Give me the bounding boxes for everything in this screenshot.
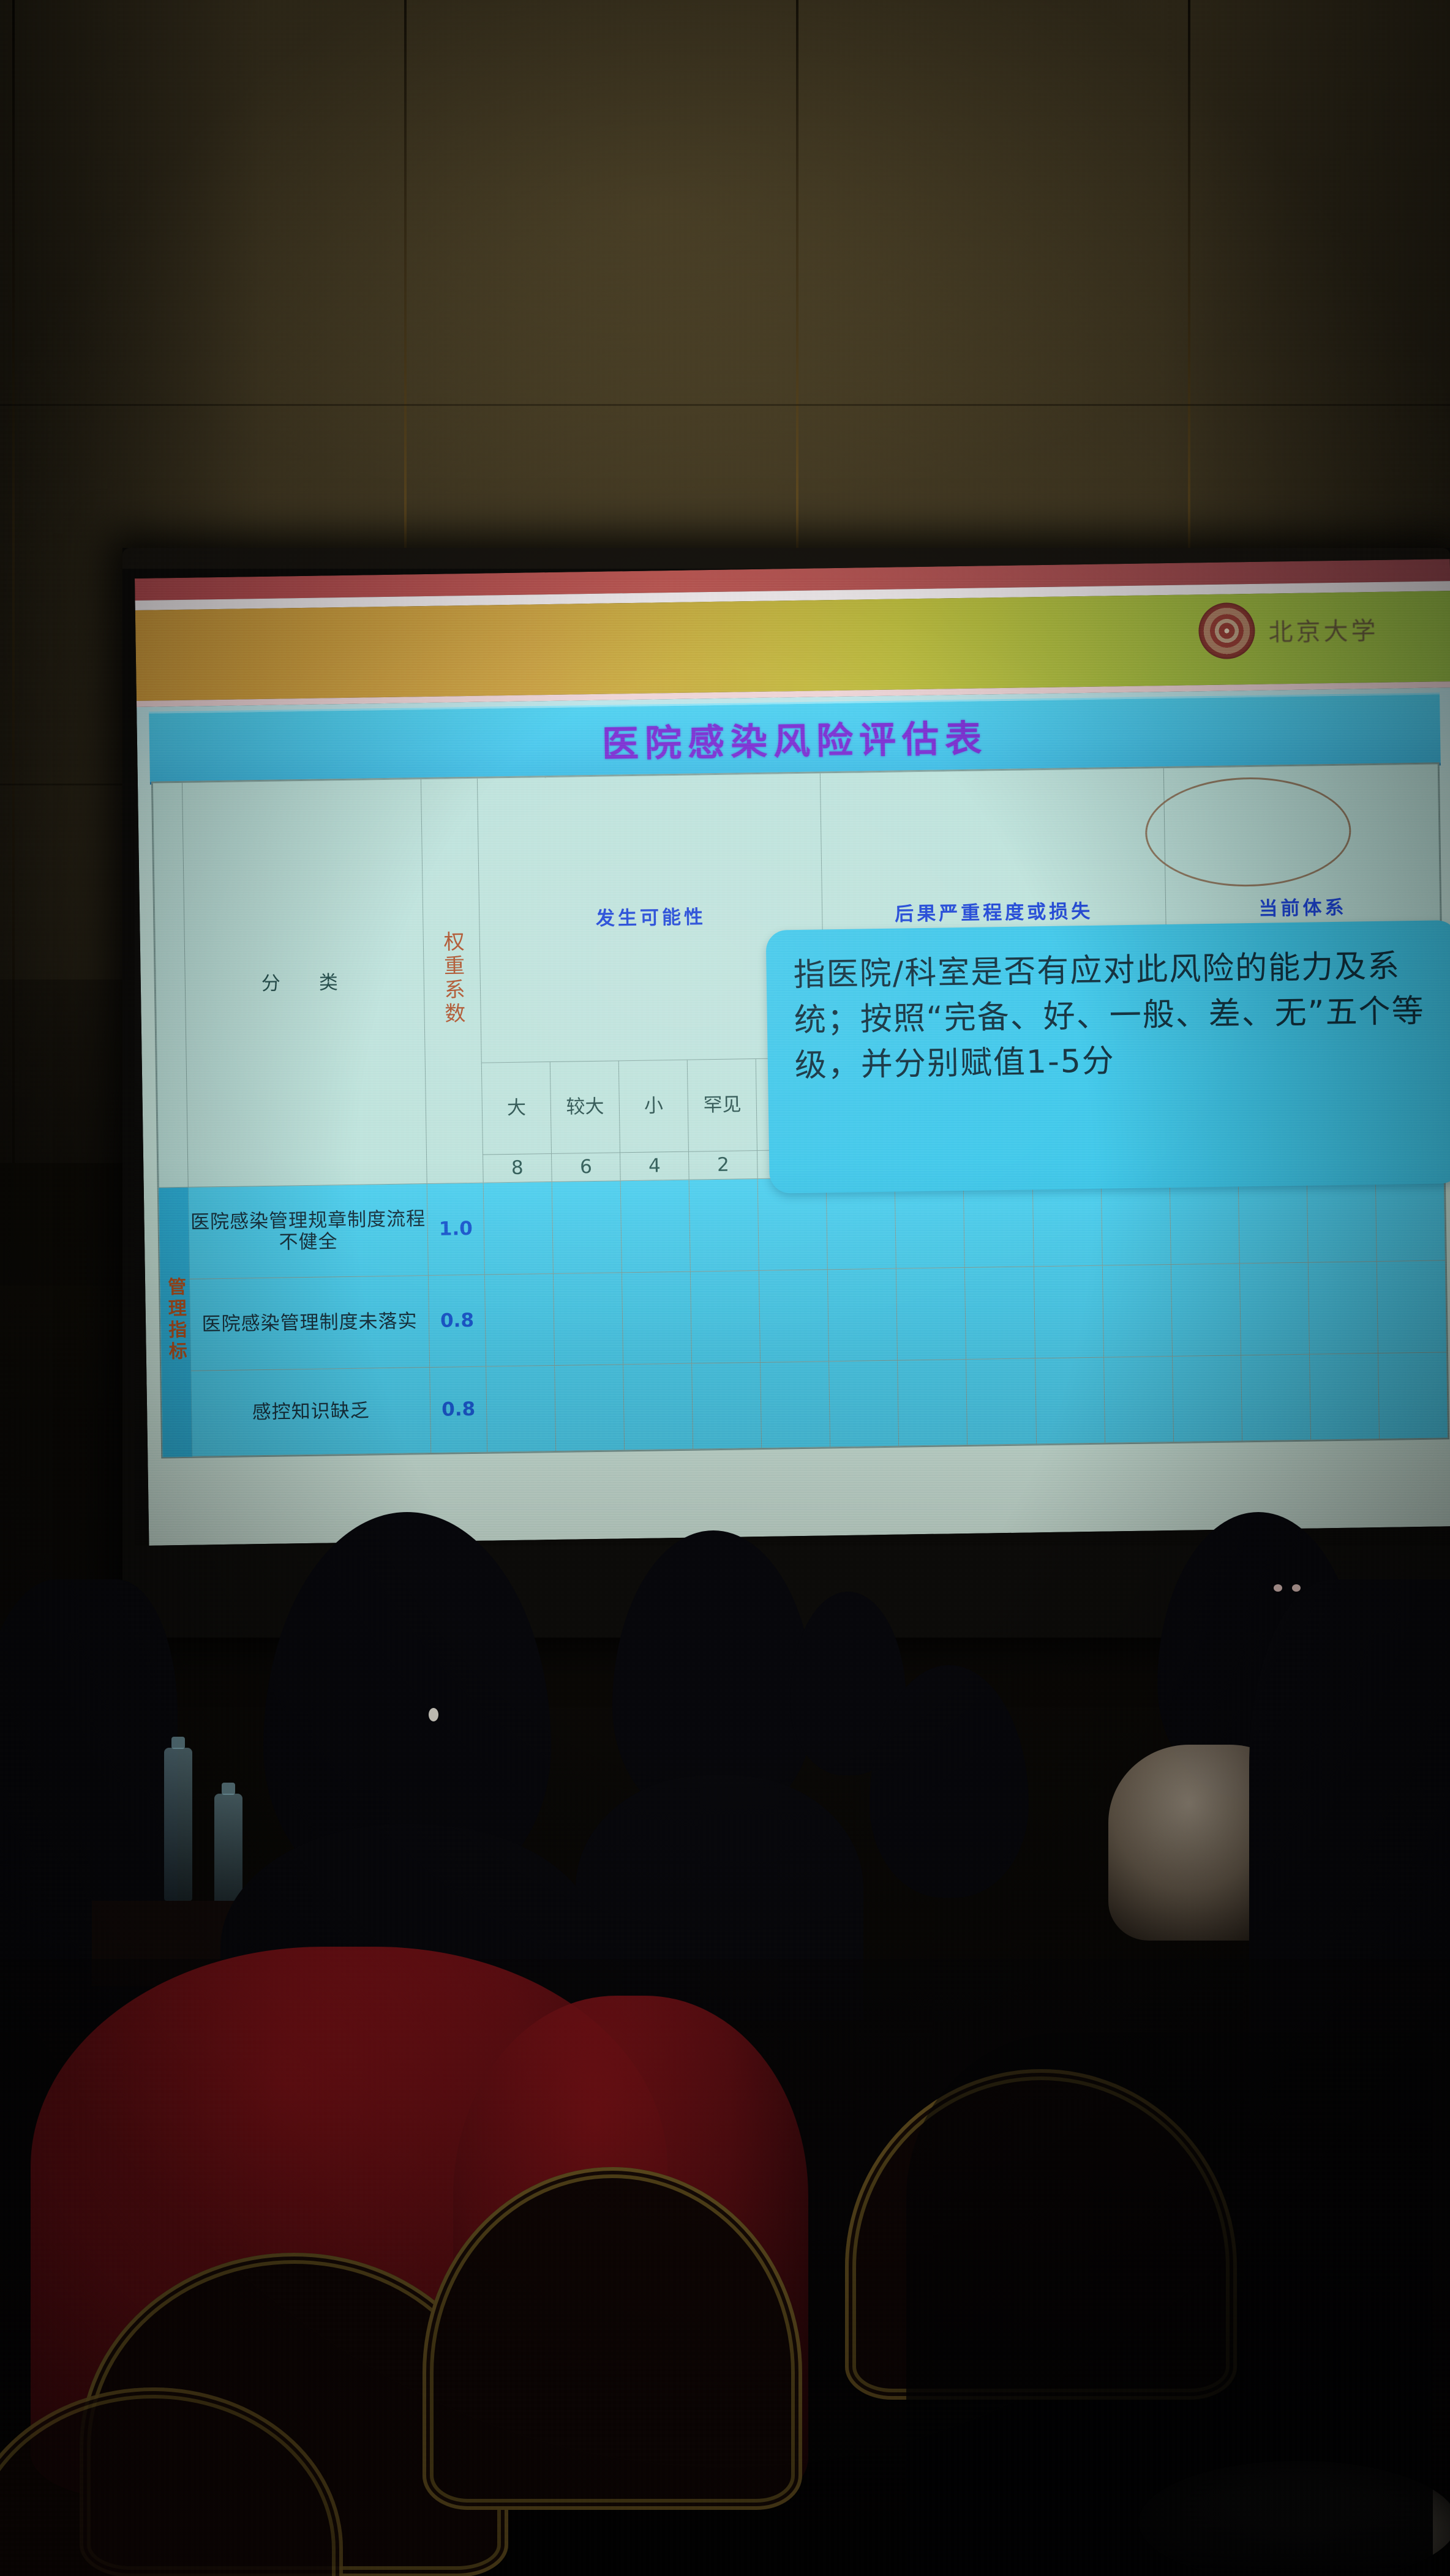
score-input-cell[interactable] — [966, 1358, 1036, 1445]
score-input-cell[interactable] — [691, 1270, 761, 1363]
score-input-cell[interactable] — [553, 1273, 623, 1366]
score-input-cell[interactable] — [484, 1273, 554, 1366]
callout-text: 指医院/科室是否有应对此风险的能力及系统；按照“完备、好、一般、差、无”五个等级… — [793, 944, 1433, 1089]
university-seal-icon — [1198, 602, 1255, 659]
score-input-cell[interactable] — [896, 1268, 966, 1361]
projected-slide: 北京大学 医院感染风险评估表 分 类 权重 — [135, 559, 1450, 1546]
score-input-cell[interactable] — [692, 1362, 762, 1449]
section-label-text: 管理指标 — [165, 1277, 186, 1363]
risk-name: 医院感染管理制度未落实 — [189, 1276, 429, 1371]
table-row: 感控知识缺乏 0.8 — [162, 1352, 1448, 1457]
sub-header-cell: 大 — [481, 1062, 551, 1155]
score-input-cell[interactable] — [1308, 1262, 1378, 1355]
score-input-cell[interactable] — [623, 1363, 693, 1450]
score-input-cell[interactable] — [1309, 1354, 1379, 1440]
score-input-cell[interactable] — [1103, 1357, 1173, 1443]
phone-highlight — [1292, 1584, 1301, 1592]
risk-name: 医院感染管理规章制度流程不健全 — [188, 1184, 428, 1279]
risk-weight: 0.8 — [428, 1275, 486, 1367]
score-input-cell[interactable] — [483, 1182, 553, 1275]
hair-clip-highlight — [429, 1708, 438, 1721]
score-input-cell[interactable] — [1034, 1265, 1103, 1358]
score-input-cell[interactable] — [829, 1360, 899, 1447]
sub-header-cell: 罕见 — [687, 1059, 757, 1152]
section-label-cell-body: 管理指标 — [159, 1187, 192, 1457]
score-input-cell[interactable] — [620, 1180, 690, 1273]
score-input-cell[interactable] — [486, 1365, 556, 1452]
score-input-cell[interactable] — [1172, 1355, 1242, 1442]
score-input-cell[interactable] — [759, 1270, 829, 1363]
score-input-cell[interactable] — [622, 1271, 692, 1365]
weight-header-cell: 权重系数 — [421, 778, 483, 1183]
risk-name: 感控知识缺乏 — [191, 1367, 431, 1456]
score-input-cell[interactable] — [965, 1267, 1035, 1360]
score-input-cell[interactable] — [1239, 1262, 1309, 1355]
score-input-cell[interactable] — [552, 1181, 622, 1274]
explanatory-callout: 指医院/科室是否有应对此风险的能力及系统；按照“完备、好、一般、差、无”五个等级… — [766, 920, 1450, 1194]
foreground-darkness — [906, 2032, 1433, 2576]
photograph-of-conference-presentation: 北京大学 医院感染风险评估表 分 类 权重 — [0, 0, 1450, 2576]
score-input-cell[interactable] — [828, 1268, 898, 1361]
score-cell: 6 — [552, 1153, 621, 1182]
weight-header-label: 权重系数 — [440, 931, 464, 1027]
score-cell: 2 — [689, 1151, 758, 1180]
score-input-cell[interactable] — [1102, 1265, 1172, 1358]
phone-highlight — [1274, 1584, 1282, 1592]
score-input-cell[interactable] — [1171, 1264, 1241, 1357]
risk-weight: 0.8 — [430, 1366, 487, 1453]
score-input-cell[interactable] — [1035, 1357, 1105, 1444]
water-bottle — [164, 1748, 192, 1901]
university-logo-text: 北京大学 — [1268, 611, 1379, 648]
score-cell: 4 — [620, 1151, 689, 1181]
score-cell: 8 — [483, 1154, 552, 1183]
score-input-cell[interactable] — [555, 1365, 625, 1451]
slide-title: 医院感染风险评估表 — [601, 709, 988, 768]
score-input-cell[interactable] — [898, 1359, 967, 1446]
score-input-cell[interactable] — [1377, 1260, 1446, 1354]
sub-header-cell: 较大 — [550, 1061, 620, 1154]
risk-weight: 1.0 — [427, 1183, 484, 1275]
category-header: 分 类 — [182, 779, 427, 1188]
score-input-cell[interactable] — [1241, 1354, 1310, 1441]
score-input-cell[interactable] — [1378, 1352, 1448, 1439]
sub-header-cell: 小 — [618, 1060, 688, 1153]
score-input-cell[interactable] — [689, 1179, 759, 1272]
university-logo: 北京大学 — [1198, 601, 1379, 659]
score-input-cell[interactable] — [761, 1361, 830, 1448]
